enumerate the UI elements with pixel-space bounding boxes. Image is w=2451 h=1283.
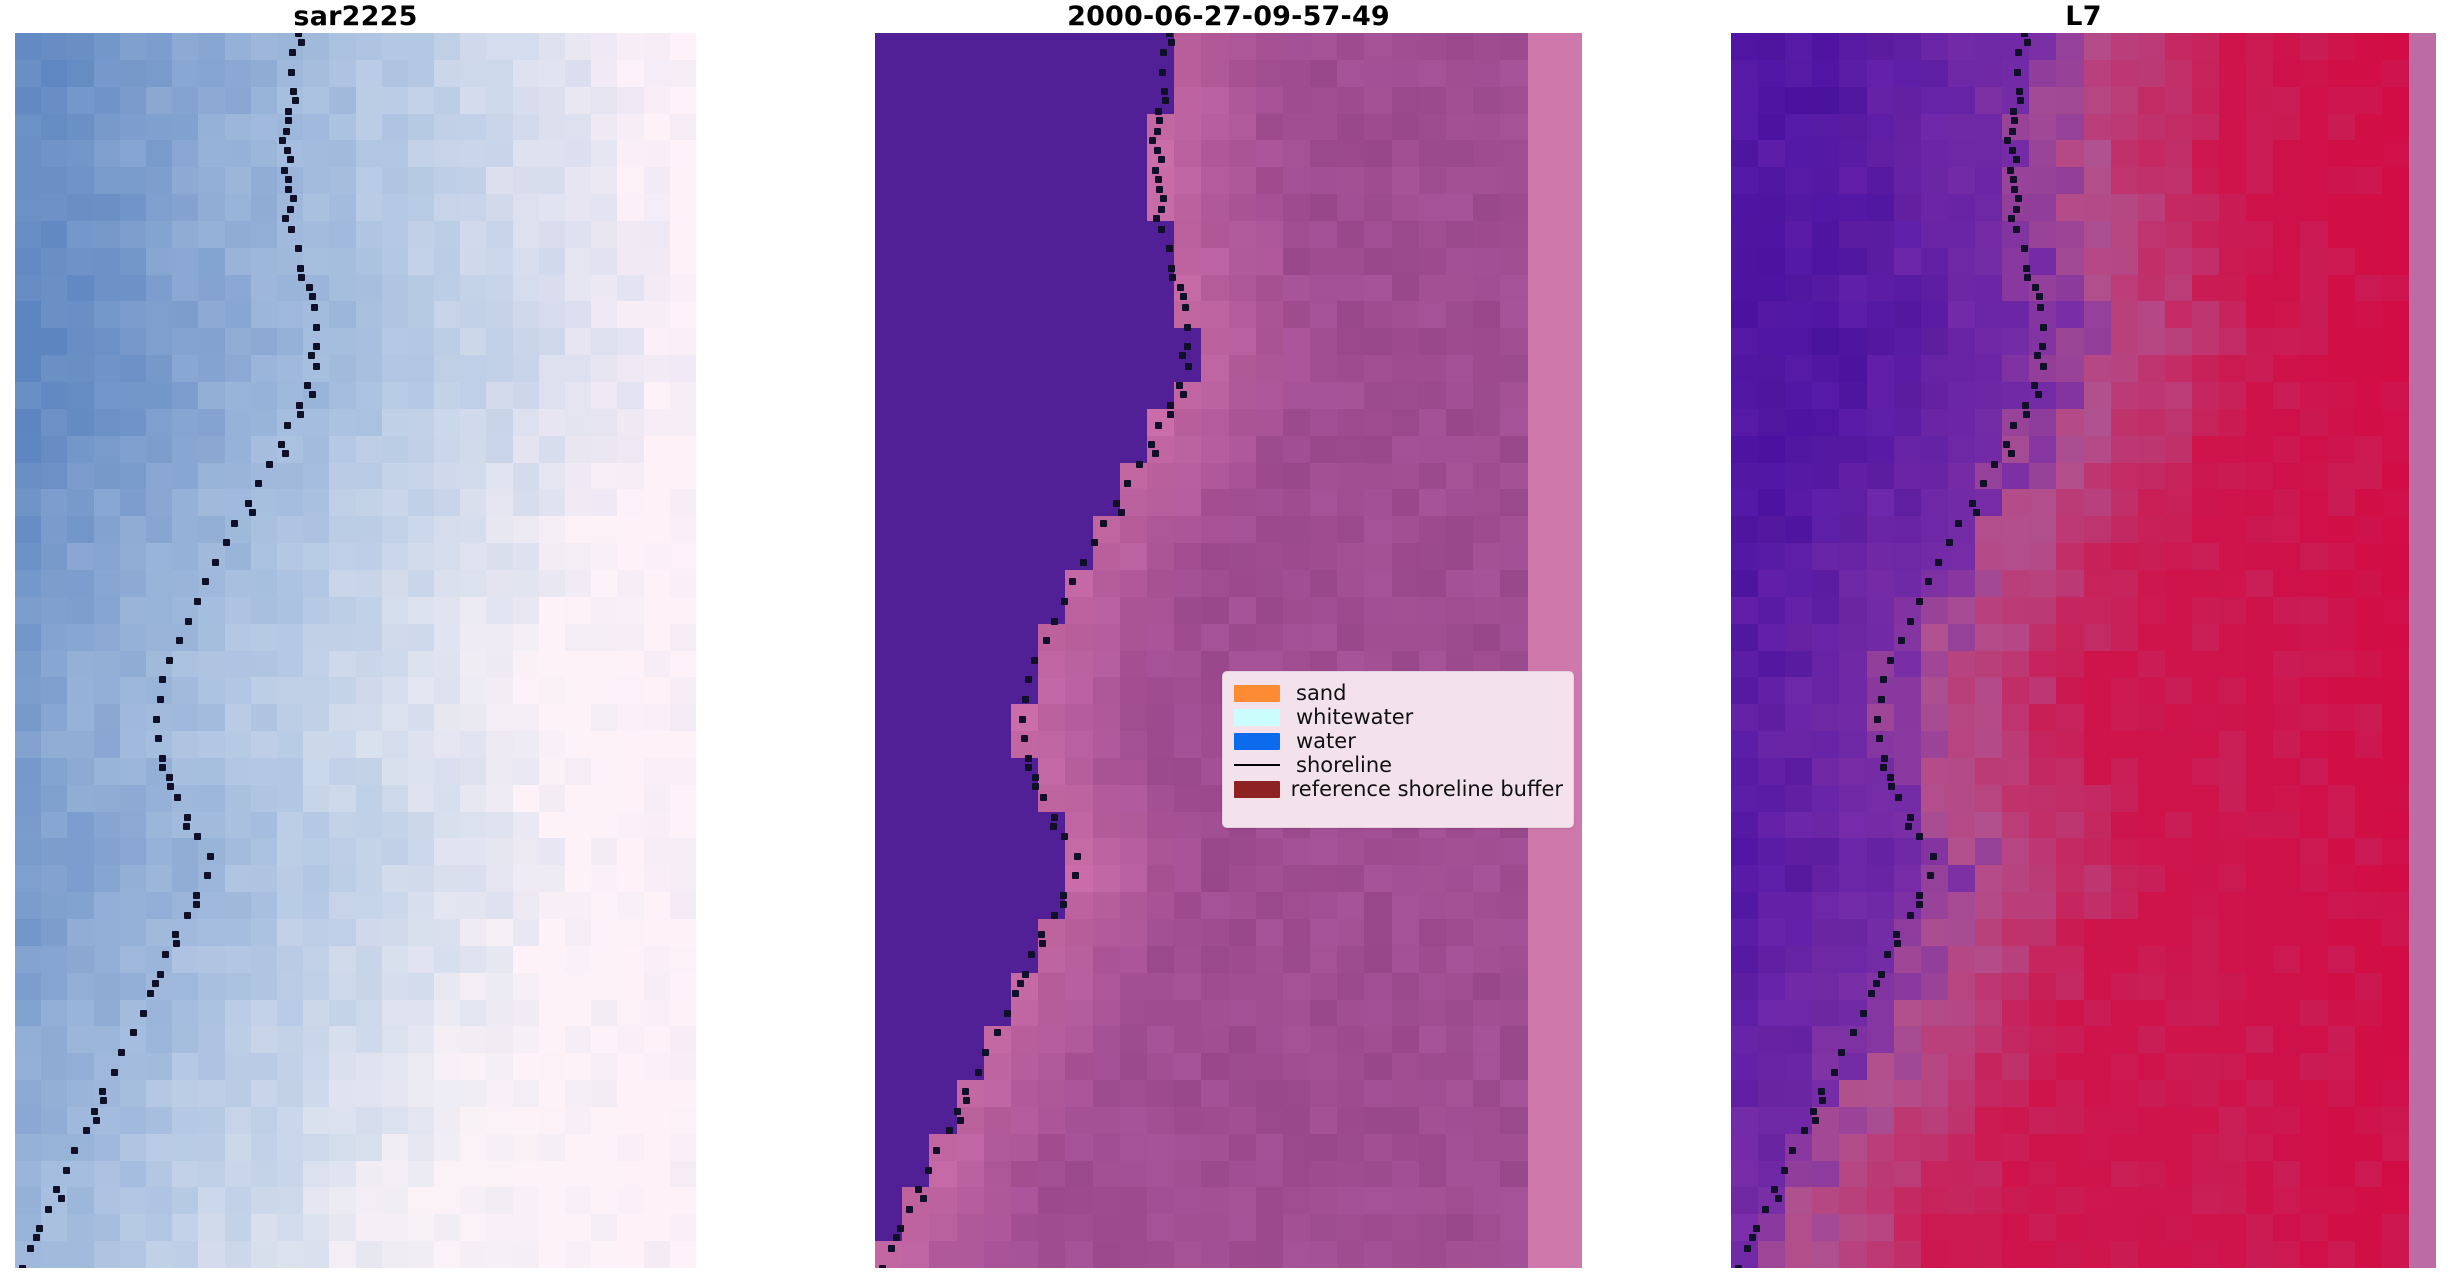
shoreline-point	[313, 324, 320, 331]
panel-title-classified: 2000-06-27-09-57-49	[875, 0, 1582, 33]
shoreline-point	[1152, 167, 1159, 174]
shoreline-point	[1158, 156, 1165, 163]
shoreline-point	[167, 783, 174, 790]
shoreline-point	[99, 1088, 106, 1095]
shoreline-point	[93, 1117, 100, 1124]
shoreline-point	[1916, 892, 1923, 899]
shoreline-overlay-sar2225	[15, 33, 696, 1268]
shoreline-point	[1118, 509, 1125, 516]
shoreline-point	[176, 637, 183, 644]
shoreline-point	[2021, 245, 2028, 252]
shoreline-point	[933, 1147, 940, 1154]
shoreline-point	[249, 509, 256, 516]
shoreline-point	[313, 343, 320, 350]
shoreline-point	[1894, 940, 1901, 947]
shoreline-point	[1930, 853, 1937, 860]
shoreline-point	[304, 382, 311, 389]
shoreline-point	[193, 901, 200, 908]
legend-box: sand whitewater water shoreline referenc…	[1222, 671, 1574, 828]
shoreline-point	[279, 137, 286, 144]
shoreline-point	[888, 1245, 895, 1252]
shoreline-point	[1762, 1206, 1769, 1213]
shoreline-point	[2013, 156, 2020, 163]
shoreline-point	[285, 186, 292, 193]
shoreline-point	[2035, 391, 2042, 398]
shoreline-point	[2011, 117, 2018, 124]
shoreline-point	[2040, 324, 2047, 331]
shoreline-point	[1819, 1097, 1826, 1104]
shoreline-point	[1180, 391, 1187, 398]
shoreline-point	[231, 520, 238, 527]
shoreline-point	[1154, 128, 1161, 135]
shoreline-point	[1177, 284, 1184, 291]
figure-canvas: sar2225 2000-06-27-09-57-49 L7 sand	[0, 0, 2451, 1283]
shoreline-point	[2013, 226, 2020, 233]
panel-canvas-classified	[875, 33, 1582, 1268]
shoreline-point	[1162, 97, 1169, 104]
shoreline-point	[1789, 1147, 1796, 1154]
shoreline-point	[2015, 195, 2022, 202]
shoreline-point	[2015, 49, 2022, 56]
shoreline-point	[1004, 1010, 1011, 1017]
shoreline-point	[266, 461, 273, 468]
panel-title-l7: L7	[1731, 0, 2436, 33]
shoreline-point	[1031, 657, 1038, 664]
shoreline-point	[1916, 833, 1923, 840]
legend-swatch-whitewater	[1234, 705, 1296, 729]
shoreline-point	[295, 245, 302, 252]
shoreline-point	[1028, 951, 1035, 958]
shoreline-point	[1136, 461, 1143, 468]
shoreline-point	[173, 940, 180, 947]
shoreline-point	[202, 578, 209, 585]
shoreline-point	[1153, 215, 1160, 222]
shoreline-point	[1167, 402, 1174, 409]
shoreline-point	[963, 1097, 970, 1104]
shoreline-point	[1898, 637, 1905, 644]
legend-label-shoreline: shoreline	[1296, 753, 1392, 777]
shoreline-point	[1810, 1108, 1817, 1115]
shoreline-point	[111, 1069, 118, 1076]
shoreline-point	[1916, 901, 1923, 908]
shoreline-point	[1969, 500, 1976, 507]
shoreline-point	[879, 1265, 886, 1269]
shoreline-point	[1878, 696, 1885, 703]
shoreline-point	[1749, 1234, 1756, 1241]
shoreline-point	[1019, 716, 1026, 723]
shoreline-point	[157, 971, 164, 978]
shoreline-point	[2014, 69, 2021, 76]
shoreline-point	[1072, 872, 1079, 879]
shoreline-point	[1888, 783, 1895, 790]
shoreline-point	[1169, 274, 1176, 281]
shoreline-point	[1850, 1029, 1857, 1036]
shoreline-point	[2017, 97, 2024, 104]
shoreline-point	[1812, 1117, 1819, 1124]
shoreline-point	[1155, 422, 1162, 429]
panel-l7: L7	[1731, 0, 2436, 1283]
shoreline-point	[1180, 293, 1187, 300]
legend-label-reference-buffer: reference shoreline buffer	[1291, 777, 1563, 801]
shoreline-point	[1925, 578, 1932, 585]
shoreline-point	[2008, 450, 2015, 457]
shoreline-point	[1860, 1010, 1867, 1017]
shoreline-point	[71, 1147, 78, 1154]
shoreline-point	[994, 1029, 1001, 1036]
shoreline-point	[1884, 951, 1891, 958]
shoreline-point	[298, 274, 305, 281]
shoreline-point	[1012, 990, 1019, 997]
shoreline-point	[1907, 912, 1914, 919]
shoreline-point	[2036, 293, 2043, 300]
shoreline-point	[159, 676, 166, 683]
shoreline-point	[2009, 147, 2016, 154]
shoreline-point	[281, 167, 288, 174]
shoreline-point	[295, 33, 302, 37]
shoreline-point	[1801, 1127, 1808, 1134]
shoreline-point	[53, 1186, 60, 1193]
shoreline-point	[91, 1108, 98, 1115]
shoreline-point	[185, 618, 192, 625]
shoreline-point	[1744, 1245, 1751, 1252]
shoreline-point	[296, 402, 303, 409]
shoreline-point	[27, 1245, 34, 1252]
shoreline-point	[1166, 245, 1173, 252]
shoreline-point	[1061, 598, 1068, 605]
shoreline-point	[1168, 39, 1175, 46]
shoreline-point	[1771, 1186, 1778, 1193]
shoreline-point	[1895, 794, 1902, 801]
legend-label-sand: sand	[1296, 681, 1346, 705]
shoreline-point	[1955, 520, 1962, 527]
shoreline-point	[306, 284, 313, 291]
shoreline-point	[1154, 147, 1161, 154]
shoreline-point	[1831, 1069, 1838, 1076]
shoreline-point	[1050, 823, 1057, 830]
shoreline-point	[2031, 382, 2038, 389]
shoreline-point	[287, 156, 294, 163]
shoreline-point	[1818, 1088, 1825, 1095]
shoreline-point	[1907, 814, 1914, 821]
shoreline-point	[2022, 402, 2029, 409]
shoreline-point	[313, 363, 320, 370]
shoreline-point	[1775, 1195, 1782, 1202]
shoreline-point	[1887, 774, 1894, 781]
shoreline-point	[223, 539, 230, 546]
shoreline-point	[1946, 539, 1953, 546]
shoreline-point	[63, 1167, 70, 1174]
shoreline-point	[204, 872, 211, 879]
shoreline-point	[1166, 33, 1173, 37]
shoreline-point	[19, 1265, 26, 1269]
shoreline-point	[2007, 167, 2014, 174]
shoreline-point	[1051, 912, 1058, 919]
shoreline-point	[184, 814, 191, 821]
shoreline-point	[1916, 598, 1923, 605]
shoreline-point	[1156, 186, 1163, 193]
shoreline-point	[1838, 1049, 1845, 1056]
shoreline-point	[1025, 676, 1032, 683]
shoreline-point	[1991, 461, 1998, 468]
shoreline-point	[207, 853, 214, 860]
shoreline-point	[194, 833, 201, 840]
shoreline-point	[982, 1049, 989, 1056]
shoreline-point	[1880, 676, 1887, 683]
shoreline-point	[1113, 500, 1120, 507]
shoreline-point	[906, 1206, 913, 1213]
shoreline-point	[1148, 441, 1155, 448]
shoreline-point	[1149, 137, 1156, 144]
shoreline-point	[1887, 657, 1894, 664]
shoreline-point	[1873, 980, 1880, 987]
shoreline-point	[1907, 618, 1914, 625]
shoreline-point	[2013, 206, 2020, 213]
shoreline-point	[130, 1029, 137, 1036]
shoreline-point	[298, 39, 305, 46]
shoreline-point	[2023, 265, 2030, 272]
shoreline-point	[159, 755, 166, 762]
shoreline-point	[172, 931, 179, 938]
shoreline-point	[2010, 176, 2017, 183]
shoreline-point	[1167, 411, 1174, 418]
shoreline-point	[1039, 940, 1046, 947]
shoreline-point	[1158, 226, 1165, 233]
shoreline-point	[155, 735, 162, 742]
shoreline-point	[2040, 363, 2047, 370]
shoreline-point	[2032, 284, 2039, 291]
shoreline-point	[1051, 814, 1058, 821]
shoreline-point	[284, 422, 291, 429]
shoreline-point	[1935, 559, 1942, 566]
shoreline-point	[289, 49, 296, 56]
shoreline-point	[2003, 441, 2010, 448]
shoreline-point	[1753, 1225, 1760, 1232]
shoreline-point	[1735, 1265, 1742, 1269]
shoreline-point	[283, 128, 290, 135]
legend-swatch-reference-buffer	[1234, 777, 1291, 801]
shoreline-point	[1017, 980, 1024, 987]
shoreline-point	[36, 1225, 43, 1232]
shoreline-point	[893, 1234, 900, 1241]
shoreline-point	[1168, 265, 1175, 272]
shoreline-point	[1091, 539, 1098, 546]
shoreline-point	[83, 1127, 90, 1134]
legend-label-water: water	[1296, 729, 1356, 753]
shoreline-point	[140, 1010, 147, 1017]
shoreline-point	[183, 823, 190, 830]
shoreline-point	[162, 951, 169, 958]
legend-item: whitewater	[1234, 705, 1563, 729]
shoreline-point	[1160, 49, 1167, 56]
shoreline-point	[255, 480, 262, 487]
shoreline-point	[212, 559, 219, 566]
panel-sar2225: sar2225	[15, 0, 696, 1283]
shoreline-point	[1781, 1167, 1788, 1174]
shoreline-point	[2037, 304, 2044, 311]
shoreline-point	[2023, 411, 2030, 418]
shoreline-point	[184, 912, 191, 919]
shoreline-point	[1182, 304, 1189, 311]
shoreline-point	[282, 450, 289, 457]
shoreline-point	[1161, 88, 1168, 95]
shoreline-point	[2010, 422, 2017, 429]
shoreline-point	[285, 108, 292, 115]
shoreline-point	[288, 69, 295, 76]
legend-item: water	[1234, 729, 1563, 753]
shoreline-point	[1905, 823, 1912, 830]
shoreline-point	[1025, 755, 1032, 762]
shoreline-point	[147, 990, 154, 997]
shoreline-point	[1184, 324, 1191, 331]
shoreline-point	[194, 598, 201, 605]
shoreline-point	[285, 176, 292, 183]
shoreline-point	[1893, 931, 1900, 938]
shoreline-point	[2008, 215, 2015, 222]
shoreline-point	[1155, 176, 1162, 183]
shoreline-point	[1876, 735, 1883, 742]
shoreline-point	[278, 441, 285, 448]
shoreline-point	[1880, 764, 1887, 771]
shoreline-point	[1032, 774, 1039, 781]
shoreline-overlay-classified	[875, 33, 1582, 1268]
shoreline-point	[1038, 931, 1045, 938]
shoreline-point	[1022, 971, 1029, 978]
shoreline-point	[290, 195, 297, 202]
panel-canvas-sar2225	[15, 33, 696, 1268]
shoreline-point	[2024, 39, 2031, 46]
shoreline-point	[1980, 480, 1987, 487]
shoreline-point	[962, 1088, 969, 1095]
shoreline-point	[166, 774, 173, 781]
shoreline-point	[1156, 117, 1163, 124]
shoreline-point	[1868, 990, 1875, 997]
legend-swatch-sand	[1234, 681, 1296, 705]
panel-classified: 2000-06-27-09-57-49	[875, 0, 1582, 1283]
shoreline-point	[2024, 274, 2031, 281]
shoreline-point	[1152, 450, 1159, 457]
shoreline-point	[284, 147, 291, 154]
legend-swatch-shoreline	[1234, 753, 1296, 777]
shoreline-point	[282, 215, 289, 222]
shoreline-point	[297, 411, 304, 418]
shoreline-point	[1022, 696, 1029, 703]
shoreline-point	[311, 304, 318, 311]
shoreline-point	[1060, 892, 1067, 899]
shoreline-point	[957, 1117, 964, 1124]
shoreline-point	[2011, 186, 2018, 193]
shoreline-point	[309, 391, 316, 398]
shoreline-point	[920, 1195, 927, 1202]
shoreline-point	[290, 88, 297, 95]
shoreline-point	[1160, 195, 1167, 202]
shoreline-point	[1878, 971, 1885, 978]
shoreline-point	[157, 696, 164, 703]
legend-swatch-water	[1234, 729, 1296, 753]
shoreline-point	[1080, 559, 1087, 566]
shoreline-point	[153, 716, 160, 723]
shoreline-point	[1184, 343, 1191, 350]
shoreline-point	[1158, 206, 1165, 213]
shoreline-point	[174, 794, 181, 801]
shoreline-point	[946, 1127, 953, 1134]
shoreline-point	[285, 117, 292, 124]
shoreline-point	[1061, 833, 1068, 840]
shoreline-point	[288, 226, 295, 233]
shoreline-point	[2010, 108, 2017, 115]
shoreline-point	[292, 97, 299, 104]
shoreline-point	[308, 352, 315, 359]
shoreline-point	[118, 1049, 125, 1056]
shoreline-point	[45, 1206, 52, 1213]
shoreline-point	[975, 1069, 982, 1076]
legend-item: reference shoreline buffer	[1234, 777, 1563, 801]
legend-item: sand	[1234, 681, 1563, 705]
shoreline-point	[2039, 343, 2046, 350]
shoreline-point	[1185, 363, 1192, 370]
shoreline-point	[2016, 88, 2023, 95]
panel-canvas-l7	[1731, 33, 2436, 1268]
shoreline-point	[1124, 480, 1131, 487]
shoreline-point	[2021, 33, 2028, 37]
shoreline-point	[1155, 108, 1162, 115]
shoreline-point	[1040, 794, 1047, 801]
shoreline-point	[1881, 755, 1888, 762]
shoreline-point	[954, 1108, 961, 1115]
shoreline-point	[152, 980, 159, 987]
shoreline-point	[925, 1167, 932, 1174]
panel-title-sar2225: sar2225	[15, 0, 696, 33]
shoreline-point	[1060, 901, 1067, 908]
shoreline-point	[1159, 69, 1166, 76]
shoreline-point	[2034, 352, 2041, 359]
shoreline-point	[245, 500, 252, 507]
shoreline-point	[1025, 764, 1032, 771]
shoreline-point	[1874, 716, 1881, 723]
legend-label-whitewater: whitewater	[1296, 705, 1413, 729]
shoreline-point	[2004, 137, 2011, 144]
shoreline-point	[915, 1186, 922, 1193]
shoreline-point	[287, 206, 294, 213]
shoreline-point	[1051, 618, 1058, 625]
shoreline-point	[309, 293, 316, 300]
legend-item: shoreline	[1234, 753, 1563, 777]
shoreline-point	[1973, 509, 1980, 516]
shoreline-point	[297, 265, 304, 272]
shoreline-overlay-l7	[1731, 33, 2436, 1268]
shoreline-point	[1074, 853, 1081, 860]
shoreline-point	[1179, 352, 1186, 359]
shoreline-point	[1927, 872, 1934, 879]
shoreline-point	[1032, 783, 1039, 790]
shoreline-point	[100, 1097, 107, 1104]
shoreline-point	[1176, 382, 1183, 389]
shoreline-point	[193, 892, 200, 899]
shoreline-point	[1043, 637, 1050, 644]
shoreline-point	[1069, 578, 1076, 585]
shoreline-point	[897, 1225, 904, 1232]
shoreline-point	[2009, 128, 2016, 135]
shoreline-point	[33, 1234, 40, 1241]
shoreline-point	[159, 764, 166, 771]
shoreline-point	[58, 1195, 65, 1202]
shoreline-point	[1100, 520, 1107, 527]
shoreline-point	[1021, 735, 1028, 742]
shoreline-point	[166, 657, 173, 664]
